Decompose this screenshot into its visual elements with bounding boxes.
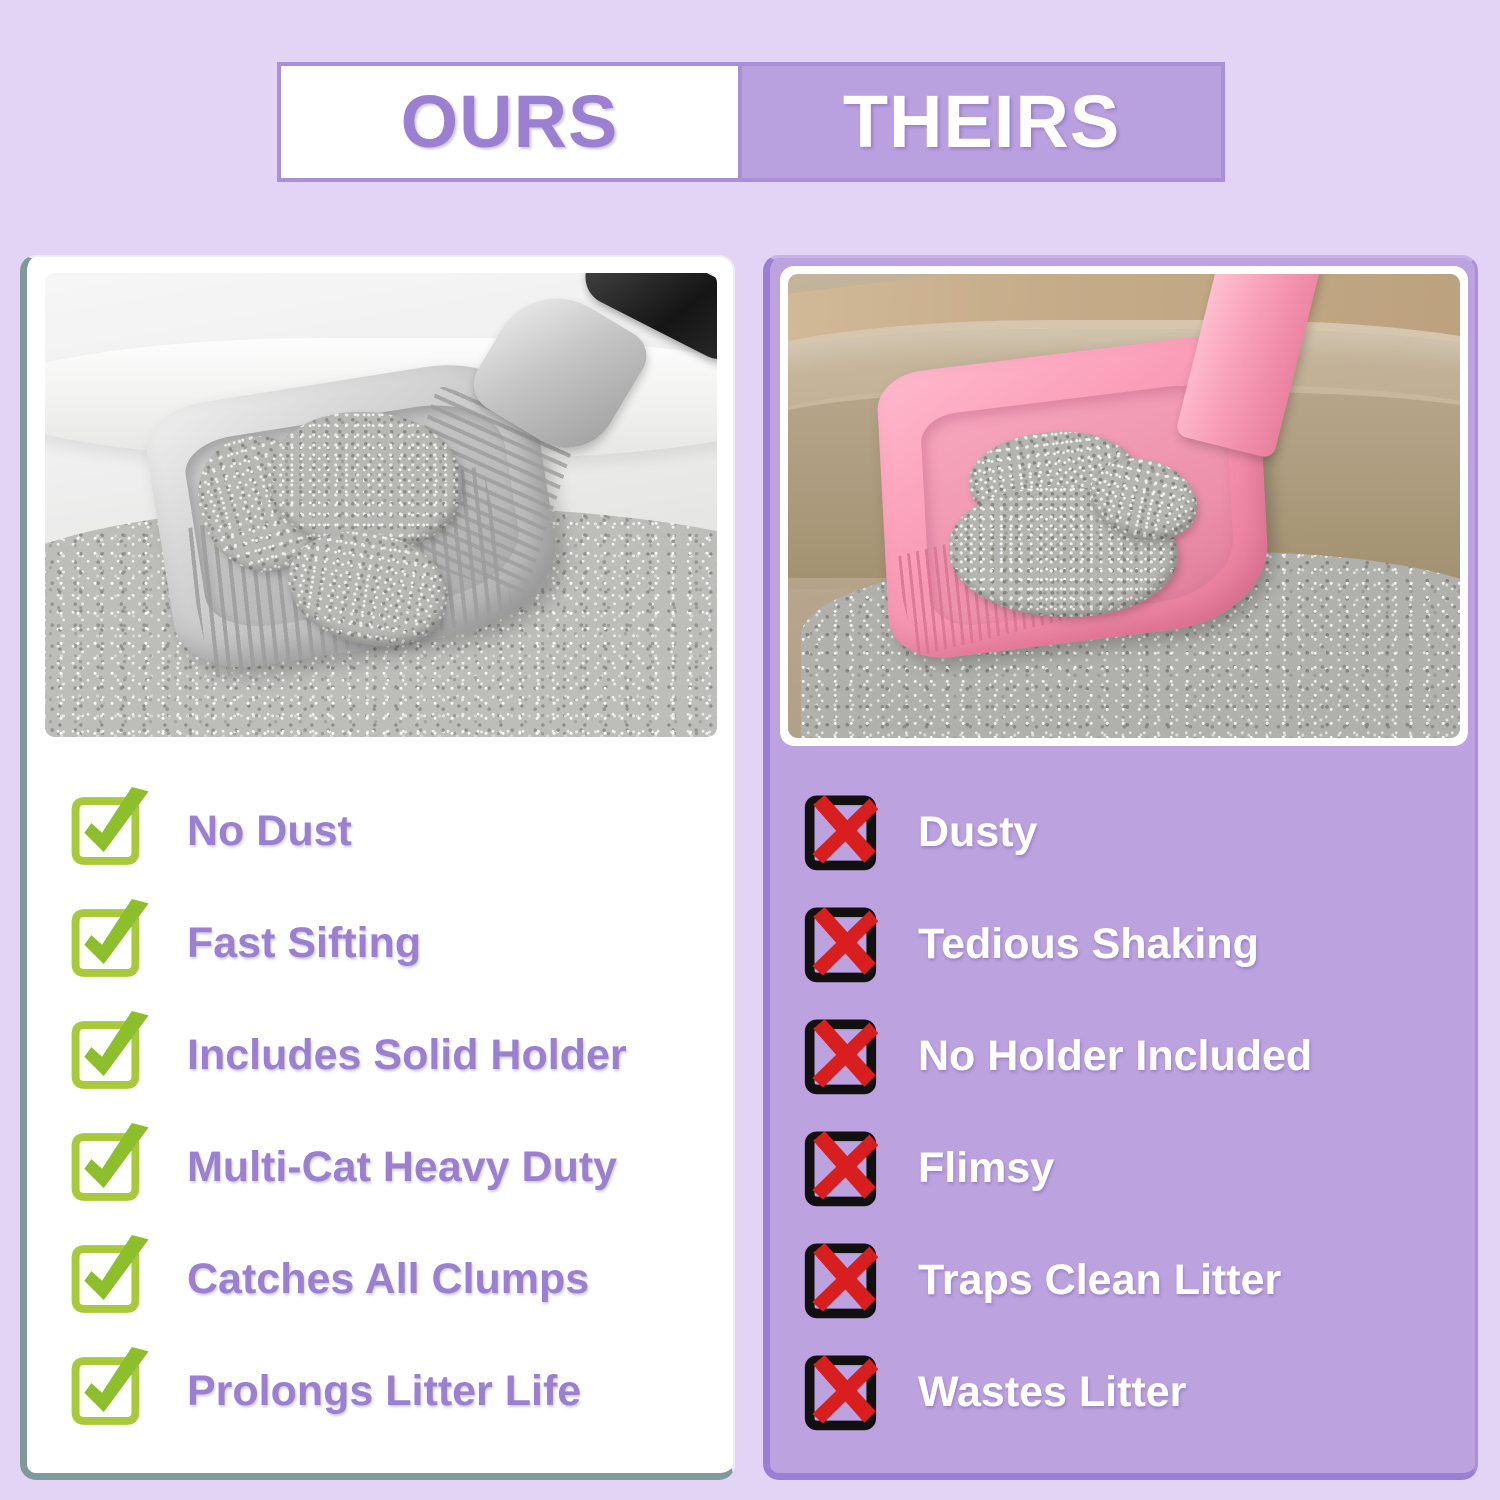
header-label-theirs: THEIRS — [843, 85, 1120, 159]
photo-frame-theirs — [780, 266, 1468, 746]
list-item: Tedious Shaking — [770, 888, 1475, 1000]
list-item-label: Prolongs Litter Life — [187, 1370, 581, 1413]
header-label-ours: OURS — [401, 85, 619, 159]
green-check-icon — [65, 1235, 153, 1323]
red-cross-icon — [800, 1012, 888, 1100]
green-check-icon — [65, 1347, 153, 1435]
list-item-label: Traps Clean Litter — [918, 1259, 1281, 1302]
list-item: Wastes Litter — [770, 1336, 1475, 1448]
list-item-label: Catches All Clumps — [187, 1258, 589, 1301]
green-check-icon — [65, 899, 153, 987]
list-item-label: Multi-Cat Heavy Duty — [187, 1146, 617, 1189]
list-item-label: No Holder Included — [918, 1035, 1312, 1078]
red-cross-icon — [800, 788, 888, 876]
red-cross-icon — [800, 900, 888, 988]
header-cell-ours: OURS — [277, 62, 742, 182]
red-cross-icon — [800, 1124, 888, 1212]
panel-ours: No Dust Fast Sifting Includes Solid Hold… — [20, 255, 735, 1480]
list-item-label: No Dust — [187, 810, 352, 853]
list-item: Includes Solid Holder — [27, 999, 733, 1111]
list-item: No Holder Included — [770, 1000, 1475, 1112]
list-item: Dusty — [770, 776, 1475, 888]
list-item: Fast Sifting — [27, 887, 733, 999]
list-item-label: Includes Solid Holder — [187, 1034, 627, 1077]
red-cross-icon — [800, 1236, 888, 1324]
green-check-icon — [65, 787, 153, 875]
green-check-icon — [65, 1011, 153, 1099]
list-item-label: Fast Sifting — [187, 922, 421, 965]
list-item-label: Wastes Litter — [918, 1371, 1186, 1414]
list-item-label: Dusty — [918, 811, 1037, 854]
feature-list-theirs: Dusty Tedious Shaking No Holder Incl — [770, 758, 1475, 1448]
list-item: Traps Clean Litter — [770, 1224, 1475, 1336]
list-item: Flimsy — [770, 1112, 1475, 1224]
panel-theirs: Dusty Tedious Shaking No Holder Incl — [763, 255, 1478, 1480]
red-cross-icon — [800, 1348, 888, 1436]
green-check-icon — [65, 1123, 153, 1211]
list-item-label: Flimsy — [918, 1147, 1054, 1190]
list-item-label: Tedious Shaking — [918, 923, 1259, 966]
list-item: Catches All Clumps — [27, 1223, 733, 1335]
list-item: Multi-Cat Heavy Duty — [27, 1111, 733, 1223]
list-item: No Dust — [27, 775, 733, 887]
feature-list-ours: No Dust Fast Sifting Includes Solid Hold… — [27, 757, 733, 1447]
header-cell-theirs: THEIRS — [742, 62, 1225, 182]
photo-frame-ours — [37, 265, 725, 745]
list-item: Prolongs Litter Life — [27, 1335, 733, 1447]
product-photo-ours — [45, 273, 717, 737]
comparison-header: OURS THEIRS — [277, 62, 1225, 182]
product-photo-theirs — [788, 274, 1460, 738]
